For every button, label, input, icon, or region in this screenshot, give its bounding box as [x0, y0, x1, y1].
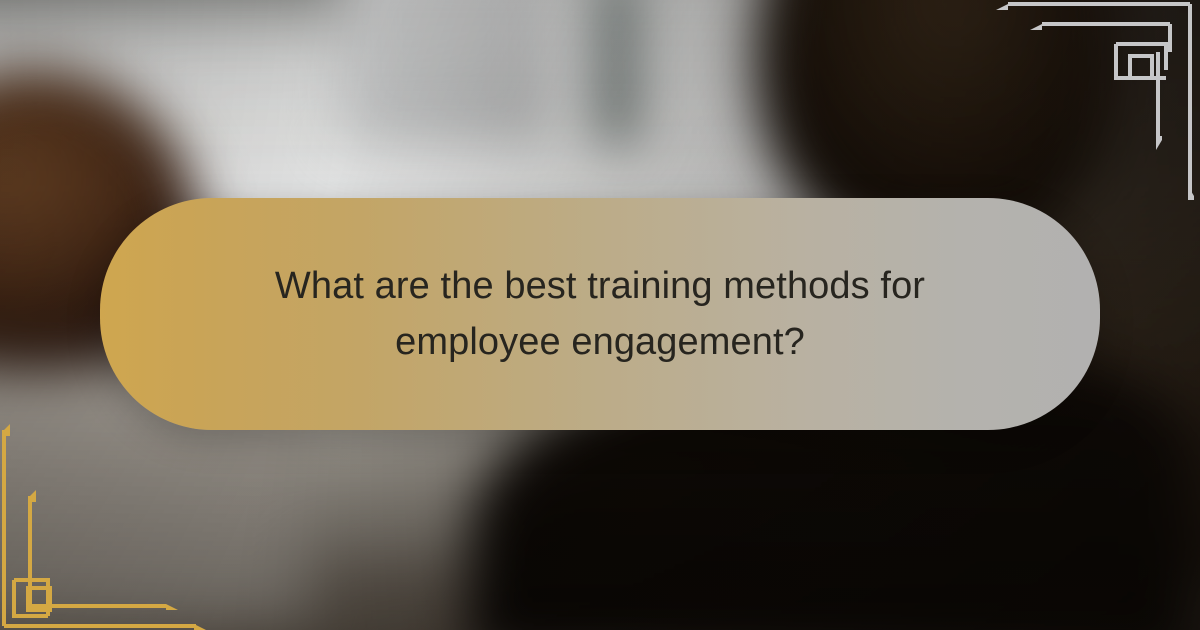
question-card: What are the best training methods for e… [100, 198, 1100, 430]
question-text: What are the best training methods for e… [220, 258, 980, 370]
social-card-canvas: What are the best training methods for e… [0, 0, 1200, 630]
